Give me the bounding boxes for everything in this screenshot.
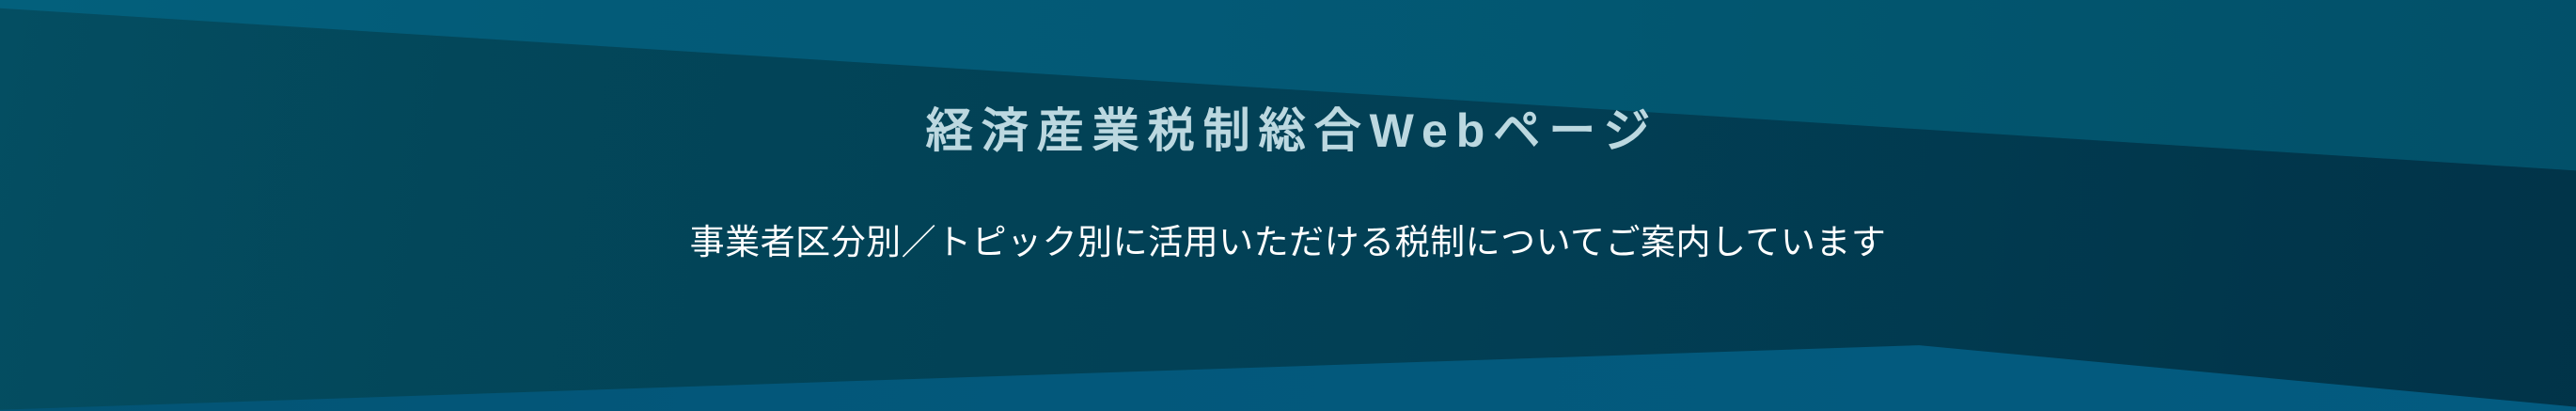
hero-banner: 経済産業税制総合Webページ 事業者区分別／トピック別に活用いただける税制につい… xyxy=(0,0,2576,411)
hero-content: 経済産業税制総合Webページ 事業者区分別／トピック別に活用いただける税制につい… xyxy=(0,0,2576,411)
page-title: 経済産業税制総合Webページ xyxy=(0,107,2576,154)
page-subtitle: 事業者区分別／トピック別に活用いただける税制についてご案内しています xyxy=(0,221,2576,264)
